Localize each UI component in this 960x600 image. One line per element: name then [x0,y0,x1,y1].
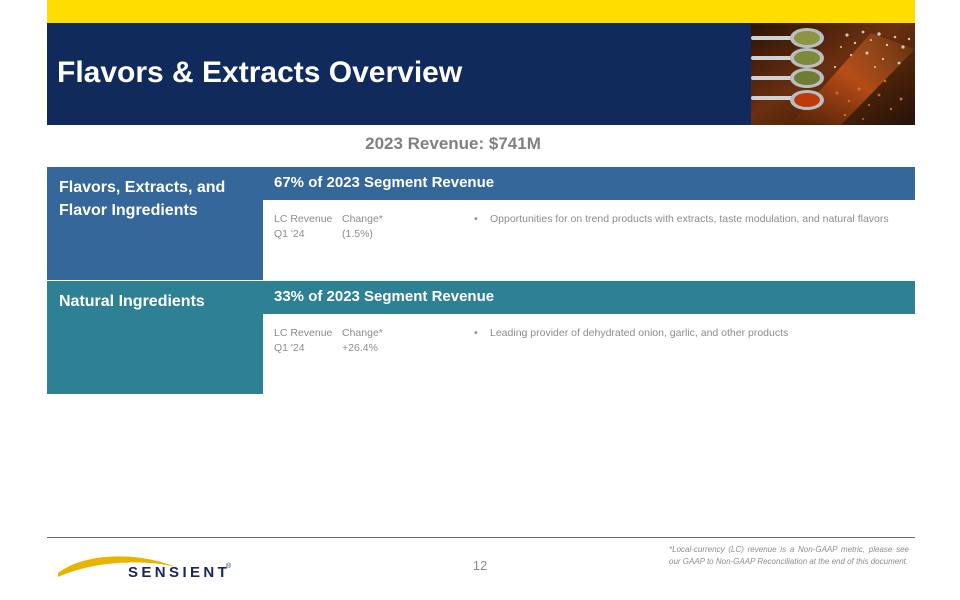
bullet-text: Leading provider of dehydrated onion, ga… [490,327,788,339]
footnote: *Local-currency (LC) revenue is a Non-GA… [669,544,909,567]
footer-divider [47,537,915,538]
bullet-text: Opportunities for on trend products with… [490,213,889,225]
list-item: • Opportunities for on trend products wi… [468,212,908,227]
segment-body-natural: LC RevenueChange* Q1 '24+26.4% • Leading… [263,318,915,370]
segment-share-label: 33% of 2023 Segment Revenue [274,288,494,305]
list-item: • Leading provider of dehydrated onion, … [468,326,908,341]
revenue-subtitle: 2023 Revenue: $741M [0,134,906,154]
metric-period: Q1 '24 [274,341,342,356]
spice-spoons-photo [751,23,915,125]
metric-change-header: Change* [342,212,383,227]
segment-share-bar-natural: 33% of 2023 Segment Revenue [263,281,915,314]
metric-table-flavors: LC RevenueChange* Q1 '24(1.5%) [274,212,383,242]
segment-name-label: Flavors, Extracts, and Flavor Ingredient… [59,176,255,222]
segment-body-flavors: LC RevenueChange* Q1 '24(1.5%) • Opportu… [263,204,915,267]
segment-share-label: 67% of 2023 Segment Revenue [274,174,494,191]
accent-yellow-bar [47,0,915,23]
segment-name-block-flavors: Flavors, Extracts, and Flavor Ingredient… [47,167,263,280]
bullet-list-natural: • Leading provider of dehydrated onion, … [468,326,908,341]
metric-header-row: LC RevenueChange* [274,212,383,227]
metric-value: +26.4% [342,341,378,356]
metric-value-row: Q1 '24+26.4% [274,341,383,356]
segment-share-bar-flavors: 67% of 2023 Segment Revenue [263,167,915,200]
metric-name: LC Revenue [274,212,342,227]
bullet-list-flavors: • Opportunities for on trend products wi… [468,212,908,227]
metric-value: (1.5%) [342,227,373,242]
segment-name-label: Natural Ingredients [59,290,259,313]
metric-period: Q1 '24 [274,227,342,242]
metric-change-header: Change* [342,326,383,341]
metric-value-row: Q1 '24(1.5%) [274,227,383,242]
bullet-dot-icon: • [474,326,478,341]
segment-name-block-natural: Natural Ingredients [47,281,263,394]
metric-name: LC Revenue [274,326,342,341]
slide-canvas: Flavors & Extracts Overview [0,0,960,600]
metric-header-row: LC RevenueChange* [274,326,383,341]
metric-table-natural: LC RevenueChange* Q1 '24+26.4% [274,326,383,356]
page-title: Flavors & Extracts Overview [57,55,462,91]
bullet-dot-icon: • [474,212,478,227]
